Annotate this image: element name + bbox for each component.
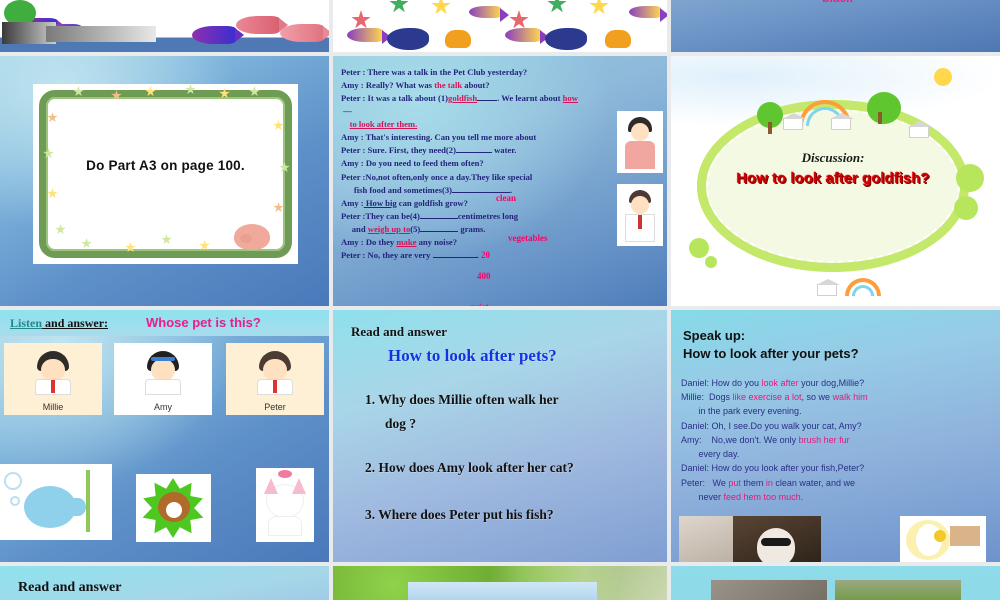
grass-photo xyxy=(835,580,961,600)
house-icon xyxy=(831,118,851,130)
speak-heading-2: How to look after your pets? xyxy=(683,346,859,361)
star-frame-card: Do Part A3 on page 100. xyxy=(33,84,298,264)
fish-icon xyxy=(505,28,541,42)
cat-glasses-photo xyxy=(733,516,821,562)
house-icon xyxy=(783,118,803,130)
slide-thumb-fish-clipart[interactable] xyxy=(0,0,329,52)
decor-blob xyxy=(954,196,978,220)
slide-thumb-discussion[interactable]: Discussion: How to look after goldfish? xyxy=(671,56,1000,306)
black-word-text: black xyxy=(671,0,1000,5)
read-subheading: How to look after pets? xyxy=(388,346,557,366)
read-question-1b: dog ? xyxy=(385,416,416,432)
annotation-quiet: quiet xyxy=(469,302,489,306)
discussion-label: Discussion: xyxy=(697,150,969,166)
dialogue-text: Peter : There was a talk in the Pet Club… xyxy=(341,66,661,262)
person-name: Amy xyxy=(114,402,212,412)
person-name: Millie xyxy=(4,402,102,412)
listen-word: Listen xyxy=(10,316,42,330)
read-question-3: 3. Where does Peter put his fish? xyxy=(365,507,554,523)
duck-cartoon-photo xyxy=(900,516,986,562)
slide-thumb-read-answer-2[interactable]: Read and answer xyxy=(0,566,329,600)
decor-blob xyxy=(689,238,709,258)
tree-icon xyxy=(867,92,901,124)
annotation-clean: clean xyxy=(496,193,516,203)
discussion-question: How to look after goldfish? xyxy=(697,170,969,187)
whale-icon xyxy=(545,28,587,50)
decor-blob xyxy=(956,164,984,192)
person-card-amy[interactable]: Amy xyxy=(114,343,212,415)
peter-photo xyxy=(617,184,663,246)
fish-icon xyxy=(192,26,236,44)
slide-thumb-part-a3[interactable]: Do Part A3 on page 100. xyxy=(0,56,329,306)
rock-shape xyxy=(46,26,156,42)
annotation-400: 400 xyxy=(477,271,491,281)
fence-photo xyxy=(711,580,827,600)
pet-card-dog[interactable] xyxy=(136,474,211,542)
sun-icon xyxy=(934,68,952,86)
rainbow-icon xyxy=(845,278,881,296)
slide-thumbnail-grid: black Do Part A3 on page 100. xyxy=(0,0,1000,600)
slide-thumb-fence-photos[interactable] xyxy=(671,566,1000,600)
read-answer-heading: Read and answer xyxy=(18,580,121,596)
slide-thumb-dialogue[interactable]: Peter : There was a talk in the Pet Club… xyxy=(333,56,667,306)
crab-icon xyxy=(445,30,471,48)
person-name: Peter xyxy=(226,402,324,412)
house-icon xyxy=(909,126,929,138)
read-question-2: 2. How does Amy look after her cat? xyxy=(365,460,574,476)
amy-photo xyxy=(617,111,663,173)
pet-card-cat[interactable] xyxy=(256,468,314,542)
person-card-millie[interactable]: Millie xyxy=(4,343,102,415)
slide-thumb-sea-border[interactable] xyxy=(333,0,667,52)
fish-icon xyxy=(469,6,501,18)
person-card-peter[interactable]: Peter xyxy=(226,343,324,415)
slide-thumb-grass-photo[interactable] xyxy=(333,566,667,600)
speak-dialogue: Daniel: How do you look after your dog,M… xyxy=(681,376,998,504)
slide-thumb-speak-up[interactable]: Speak up: How to look after your pets? D… xyxy=(671,310,1000,562)
read-question-1a: 1. Why does Millie often walk her xyxy=(365,392,559,408)
fish-icon xyxy=(236,16,280,34)
slide-title-a3: Do Part A3 on page 100. xyxy=(33,158,298,173)
sky-photo xyxy=(408,582,597,600)
fish-icon xyxy=(347,28,383,42)
amy-avatar xyxy=(143,351,183,395)
millie-avatar xyxy=(33,351,73,395)
peter-avatar xyxy=(255,351,295,395)
tree-icon xyxy=(757,102,783,128)
listen-title: Listen and answer: xyxy=(10,316,108,331)
speak-heading-1: Speak up: xyxy=(683,328,745,343)
house-icon xyxy=(817,284,837,296)
slide-thumb-black-word[interactable]: black xyxy=(671,0,1000,52)
crab-icon xyxy=(605,30,631,48)
and-answer-word: and answer: xyxy=(42,316,108,330)
decor-blob xyxy=(705,256,717,268)
whose-pet-question: Whose pet is this? xyxy=(146,315,261,330)
fish-icon xyxy=(629,6,661,18)
annotation-20: 20 xyxy=(481,250,490,260)
slide-thumb-listen-answer[interactable]: Listen and answer: Whose pet is this? Mi… xyxy=(0,310,329,562)
pig-icon xyxy=(234,224,270,250)
slide-thumb-read-answer[interactable]: Read and answer How to look after pets? … xyxy=(333,310,667,562)
pet-card-goldfish[interactable] xyxy=(0,464,112,540)
whale-icon xyxy=(387,28,429,50)
pomeranian-photo xyxy=(679,516,735,562)
read-heading: Read and answer xyxy=(351,324,447,340)
fish-icon xyxy=(280,24,324,42)
annotation-vegetables: vegetables xyxy=(508,233,548,243)
